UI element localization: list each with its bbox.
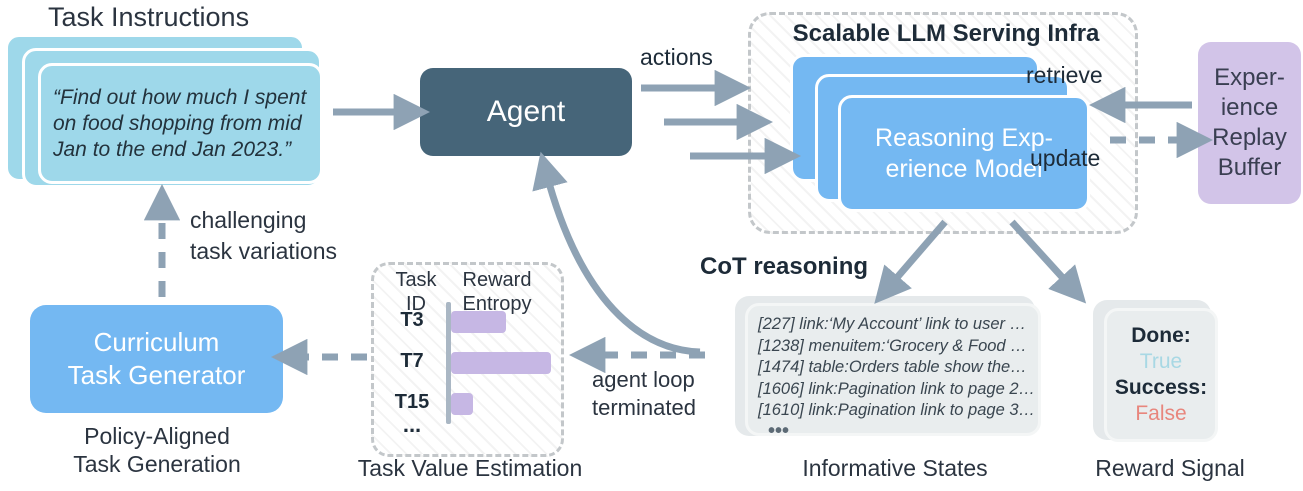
reward-success-key: Success:: [1115, 375, 1207, 401]
update-edge-label: update: [1030, 145, 1100, 172]
task-value-estimation-caption: Task Value Estimation: [345, 455, 595, 482]
agent-loop-label-line2: terminated: [592, 395, 696, 420]
task-value-row-label: T15: [379, 391, 445, 414]
curriculum-task-generator-box[interactable]: Curriculum Task Generator: [30, 305, 283, 413]
task-value-bar: [451, 393, 473, 415]
replay-buffer-label-line4: Buffer: [1218, 154, 1282, 181]
serving-infra-title: Scalable LLM Serving Infra: [786, 20, 1106, 48]
agent-loop-terminated-label: agent loop terminated: [592, 366, 732, 422]
task-value-header-taskid-line1: Task: [395, 269, 436, 291]
informative-state-line: [1474] table:Orders table show the…: [758, 357, 1032, 379]
informative-state-line: [1610] link:Pagination link to page 3…: [758, 400, 1032, 422]
task-value-ellipsis: ...: [379, 412, 445, 438]
agent-box[interactable]: Agent: [420, 68, 632, 156]
reward-signal-caption: Reward Signal: [1075, 455, 1265, 482]
actions-edge-label: actions: [640, 44, 713, 71]
arrow-feedback-to-agent: [546, 172, 700, 352]
task-value-bar: [451, 311, 506, 333]
task-instruction-quote: “Find out how much I spent on food shopp…: [53, 85, 308, 163]
informative-state-line: [1606] link:Pagination link to page 2…: [758, 379, 1032, 401]
reasoning-experience-model-label-line2: erience Model: [885, 155, 1042, 183]
informative-states-caption: Informative States: [760, 455, 1030, 482]
experience-replay-buffer-box[interactable]: Exper- ience Replay Buffer: [1198, 42, 1301, 204]
task-value-header-reward-line1: Reward: [463, 269, 532, 291]
policy-aligned-caption: Policy-Aligned Task Generation: [22, 422, 292, 478]
informative-state-line: [1238] menuitem:‘Grocery & Food …: [758, 336, 1032, 358]
replay-buffer-label-line3: Replay: [1212, 124, 1287, 151]
reward-signal-card-front[interactable]: Done: True Success: False: [1104, 308, 1218, 442]
challenging-label-line2: task variations: [190, 238, 337, 264]
informative-states-ellipsis: •••: [758, 422, 1032, 441]
reward-done-key: Done:: [1131, 323, 1191, 349]
task-value-row-label: T7: [379, 350, 445, 373]
informative-states-line-list: [227] link:‘My Account’ link to user …[1…: [758, 314, 1032, 422]
informative-state-line: [227] link:‘My Account’ link to user …: [758, 314, 1032, 336]
task-instructions-title: Task Instructions: [48, 2, 249, 33]
policy-aligned-caption-line1: Policy-Aligned: [84, 423, 230, 449]
informative-states-card-front[interactable]: [227] link:‘My Account’ link to user …[1…: [745, 303, 1041, 436]
curriculum-label-line1: Curriculum: [94, 327, 220, 357]
replay-buffer-label-line2: ience: [1221, 94, 1278, 121]
challenging-label-line1: challenging: [190, 207, 306, 233]
cot-reasoning-label: CoT reasoning: [700, 253, 868, 281]
curriculum-label-line2: Task Generator: [68, 360, 246, 390]
task-value-bar: [451, 352, 551, 374]
agent-loop-label-line1: agent loop: [592, 367, 695, 392]
replay-buffer-label-line1: Exper-: [1214, 64, 1285, 91]
reward-done-value: True: [1140, 349, 1182, 375]
task-value-header-reward: Reward Entropy: [447, 268, 547, 316]
reasoning-experience-model-label-line1: Reasoning Exp-: [875, 124, 1053, 152]
agent-label: Agent: [487, 95, 565, 129]
task-value-row-label: T3: [379, 309, 445, 332]
policy-aligned-caption-line2: Task Generation: [73, 451, 240, 477]
retrieve-edge-label: retrieve: [1026, 62, 1103, 89]
challenging-task-variations-label: challenging task variations: [190, 205, 420, 267]
reward-success-value: False: [1135, 401, 1186, 427]
task-instruction-card-front[interactable]: “Find out how much I spent on food shopp…: [38, 63, 323, 184]
